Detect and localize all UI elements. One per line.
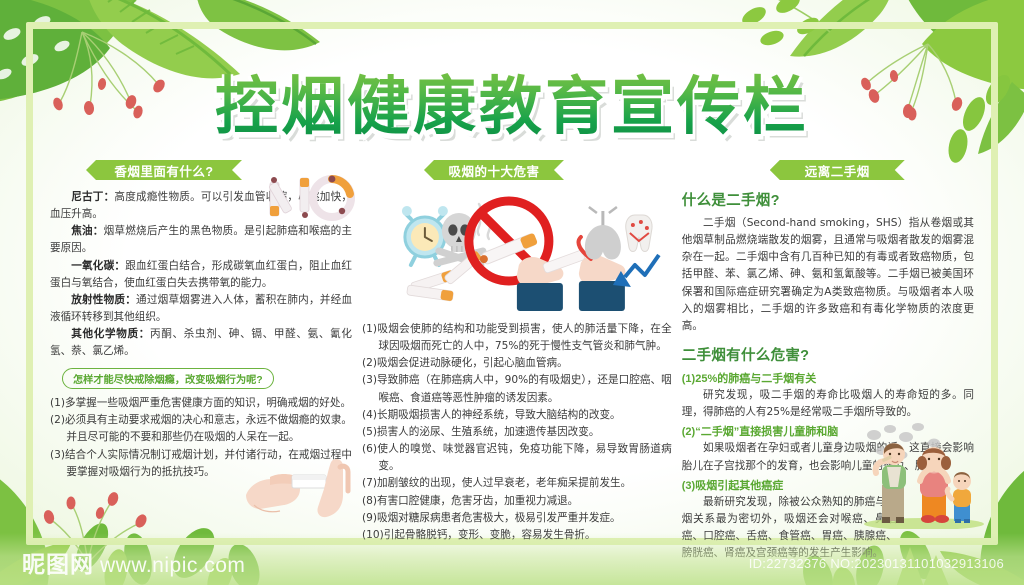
sub-heading-other-cancers: (3)吸烟引起其他癌症 [682,477,974,493]
para-carbon-monoxide: 一氧化碳：跟血红蛋白结合，形成碳氧血红蛋白，阻止血红蛋白与氧结合，使血红蛋白失去… [50,258,352,292]
col1-quit-list: (1)多掌握一些吸烟严重危害健康方面的知识，明确戒烟的好处。 (2)必须具有主动… [50,395,352,481]
poster-canvas: 控烟健康教育宣传栏 控烟健康教育宣传栏 控烟健康教育宣传栏 香烟里面有什么? [0,0,1024,585]
col1-body: 尼古丁：高度成瘾性物质。可以引发血管收缩，心跳加快，血压升高。 焦油：烟草燃烧后… [50,189,352,361]
col3-sub3-body: 最新研究发现，除被公众熟知的肺癌与吸烟关系最为密切外，吸烟还会对喉癌、鼻咽癌、口… [682,494,897,563]
sub-heading-lung-cancer: (1)25%的肺癌与二手烟有关 [682,370,974,386]
para-secondhand-definition: 二手烟（Second-hand smoking，SHS）指从卷烟或其他烟草制品燃… [682,215,974,335]
col2-hazard-list: (1)吸烟会使肺的结构和功能受到损害，使人的肺活量下降，在全球因吸烟而死亡的人中… [362,321,672,544]
subheading-how-to-quit: 怎样才能尽快戒除烟瘾，改变吸烟行为呢? [62,368,274,390]
list-item: (9)吸烟对糖尿病患者危害极大，极易引发严重并发症。 [362,510,672,527]
list-item: (3)结合个人实际情况制订戒烟计划，并付诸行动，在戒烟过程中要掌握对吸烟行为的抵… [50,447,352,481]
col3-sub2-body: 如果吸烟者在孕妇或者儿童身边吸烟的话，这直接会影响胎儿在子宫找那个的发育，也会影… [682,440,974,474]
kw-radioactive: 放射性物质： [71,294,136,306]
list-item: (8)有害口腔健康，危害牙齿，加重视力减退。 [362,493,672,510]
list-item: (6)使人的嗅觉、味觉器官迟钝，免疫功能下降，易导致胃肠道病变。 [362,441,672,475]
kw-other-chemicals: 其他化学物质： [71,328,150,340]
content-columns: 香烟里面有什么? [50,160,974,527]
column-cigarette-contents: 香烟里面有什么? [50,160,352,527]
heading-secondhand-hazards: 二手烟有什么危害? [682,344,974,365]
site-url-text: www.nipic.com [100,554,245,579]
kw-nicotine: 尼古丁： [71,191,114,203]
list-item: (2)必须具有主动要求戒烟的决心和意志，永远不做烟瘾的奴隶。并且尽可能的不要和那… [50,412,352,446]
list-item: (3)导致肺癌（在肺癌病人中，90%的有吸烟史），还是口腔癌、咽喉癌、食道癌等恶… [362,372,672,406]
para-radioactive: 放射性物质：通过烟草烟雾进入人体，蓄积在肺内，并经血液循环转移到其他组织。 [50,292,352,326]
column-secondhand-smoke: 远离二手烟 什么是二手烟? 二手烟（Second-hand smoking，SH… [682,160,974,527]
list-item: (1)吸烟会使肺的结构和功能受到损害，使人的肺活量下降，在全球因吸烟而死亡的人中… [362,321,672,355]
list-item: (4)长期吸烟损害人的神经系统，导致大脑结构的改变。 [362,407,672,424]
site-logo-text: 昵图网 [22,545,94,579]
list-item: (10)引起骨骼脱钙，变形、变脆，容易发生骨折。 [362,527,672,544]
list-item: (7)加剧皱纹的出现，使人过早衰老，老年痴呆提前发生。 [362,475,672,492]
no-smoking-hazards-illustration [362,189,672,317]
para-nicotine: 尼古丁：高度成瘾性物质。可以引发血管收缩，心跳加快，血压升高。 [50,189,352,223]
list-item: (1)多掌握一些吸烟严重危害健康方面的知识，明确戒烟的好处。 [50,395,352,412]
banner-avoid-secondhand-smoke: 远离二手烟 [770,160,905,180]
para-other-cancers: 最新研究发现，除被公众熟知的肺癌与吸烟关系最为密切外，吸烟还会对喉癌、鼻咽癌、口… [682,494,897,563]
para-other-chemicals: 其他化学物质：丙酮、杀虫剂、砷、镉、甲醛、氨、氰化氢、萘、氯乙烯。 [50,326,352,360]
kw-carbon-monoxide: 一氧化碳： [71,260,125,272]
para-children-harm: 如果吸烟者在孕妇或者儿童身边吸烟的话，这直接会影响胎儿在子宫找那个的发育，也会影… [682,440,974,474]
list-item: (2)吸烟会促进动脉硬化，引起心脑血管病。 [362,355,672,372]
column-ten-hazards: 吸烟的十大危害 [362,160,672,527]
page-title: 控烟健康教育宣传栏 控烟健康教育宣传栏 控烟健康教育宣传栏 [0,56,1024,147]
banner-ten-hazards: 吸烟的十大危害 [424,160,564,180]
para-tar: 焦油：烟草燃烧后产生的黑色物质。是引起肺癌和喉癌的主要原因。 [50,223,352,257]
kw-tar: 焦油： [71,225,103,237]
heading-what-is-secondhand-smoke: 什么是二手烟? [682,189,974,210]
page-title-text: 控烟健康教育宣传栏 [215,56,809,147]
footer-id-text: ID:22732376 NO:20230131101032913106 [749,556,1004,571]
col3-definition: 二手烟（Second-hand smoking，SHS）指从卷烟或其他烟草制品燃… [682,215,974,335]
para-lung-cancer: 研究发现，吸二手烟的寿命比吸烟人的寿命短的多。同理，得肺癌的人有25%是经常吸二… [682,387,974,421]
sub-heading-children-harm: (2)“二手烟”直接损害儿童肺和脑 [682,423,974,439]
banner-what-is-in-cigarettes: 香烟里面有什么? [86,160,242,180]
col3-sub1-body: 研究发现，吸二手烟的寿命比吸烟人的寿命短的多。同理，得肺癌的人有25%是经常吸二… [682,387,974,421]
footer-branding: 昵图网 www.nipic.com [22,545,245,579]
list-item: (5)损害人的泌尿、生殖系统，加速遗传基因改变。 [362,424,672,441]
